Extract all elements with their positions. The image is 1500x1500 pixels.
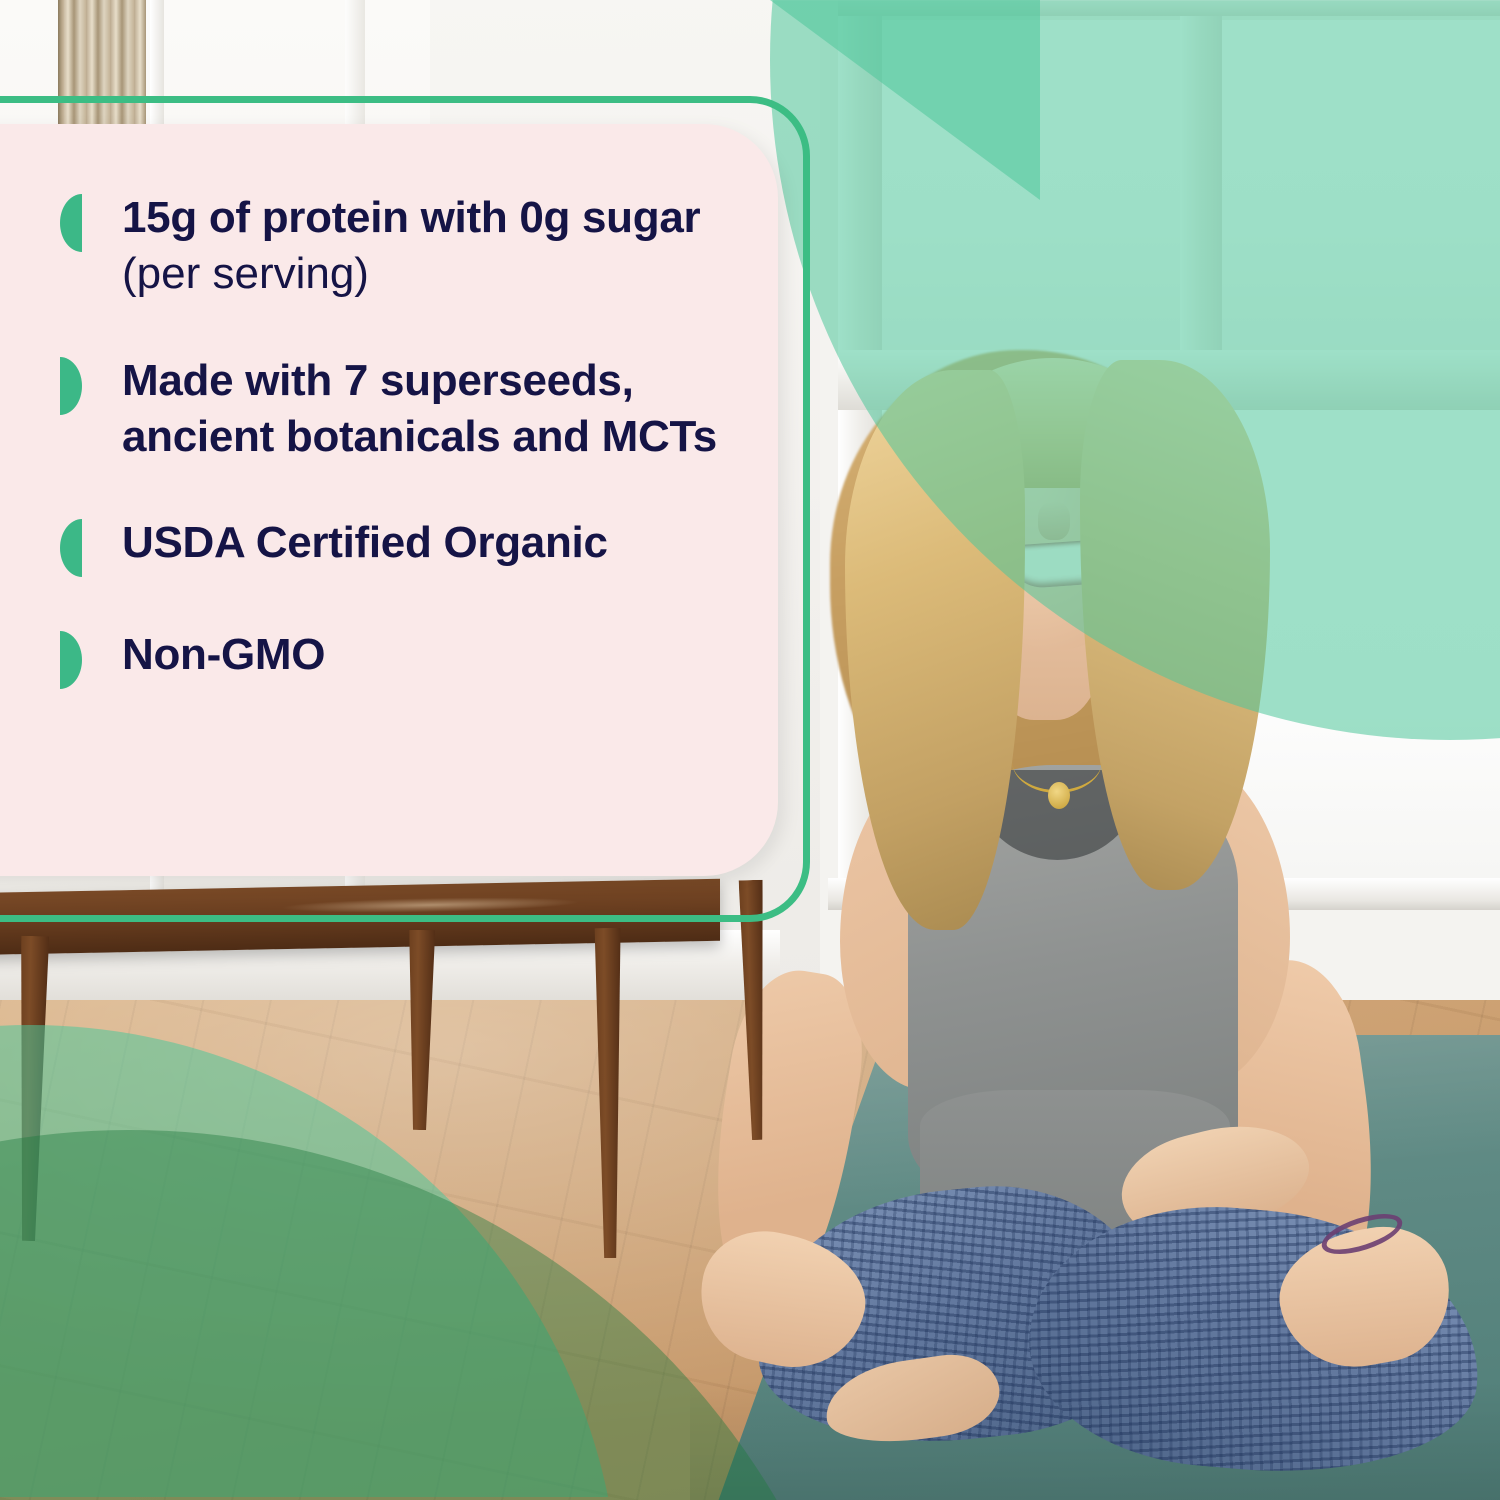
list-item: Non-GMO xyxy=(60,627,760,689)
list-item-text: USDA Certified Organic xyxy=(122,515,608,571)
half-circle-right-icon xyxy=(60,357,82,415)
half-circle-right-icon xyxy=(60,631,82,689)
list-item-strong: Made with 7 superseeds, ancient botanica… xyxy=(122,356,717,461)
list-item: 15g of protein with 0g sugar (per servin… xyxy=(60,190,760,303)
necklace-pendant xyxy=(1048,782,1070,809)
list-item-light: (per serving) xyxy=(122,249,369,298)
list-item-text: 15g of protein with 0g sugar (per servin… xyxy=(122,190,760,303)
half-circle-left-icon xyxy=(60,194,82,252)
benefits-list: 15g of protein with 0g sugar (per servin… xyxy=(60,190,760,689)
list-item-text: Non-GMO xyxy=(122,627,325,683)
promo-image: 15g of protein with 0g sugar (per servin… xyxy=(0,0,1500,1500)
half-circle-left-icon xyxy=(60,519,82,577)
list-item: USDA Certified Organic xyxy=(60,515,760,577)
list-item-strong: 15g of protein with 0g sugar xyxy=(122,193,700,242)
list-item-strong: USDA Certified Organic xyxy=(122,518,608,567)
list-item-text: Made with 7 superseeds, ancient botanica… xyxy=(122,353,760,466)
list-item: Made with 7 superseeds, ancient botanica… xyxy=(60,353,760,466)
list-item-strong: Non-GMO xyxy=(122,630,325,679)
